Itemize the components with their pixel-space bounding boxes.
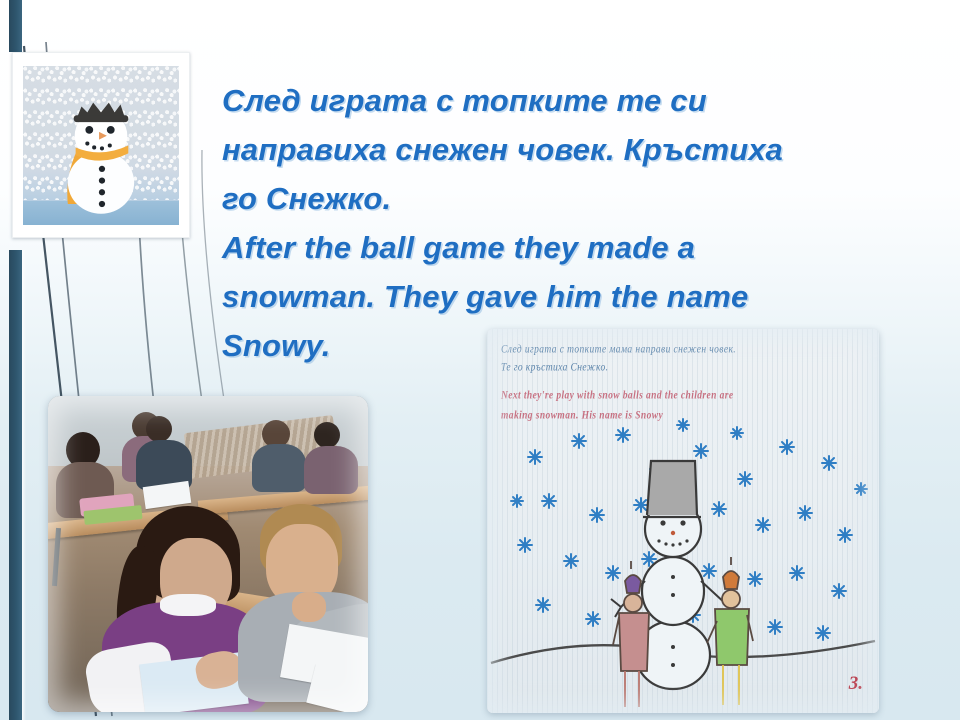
text-line-5: snowman. They gave him the name xyxy=(222,272,922,321)
snowman-figure-icon xyxy=(23,66,179,225)
drawing-vignette xyxy=(487,329,879,713)
text-line-4: After the ball game they made a xyxy=(222,223,922,272)
text-line-2: направиха снежен човек. Кръстиха xyxy=(222,125,922,174)
left-accent-bar-sheen xyxy=(22,250,26,720)
left-accent-bar-top xyxy=(9,0,22,52)
left-accent-bar-bottom xyxy=(9,250,22,720)
slide-text-block: След играта с топките те си направиха сн… xyxy=(222,76,922,370)
childs-drawing: След играта с топките мама направи снеже… xyxy=(487,329,879,713)
snowman-photo-card xyxy=(12,52,190,238)
text-line-3: го Снежко. xyxy=(222,174,922,223)
snowman-photo-frame xyxy=(23,66,179,225)
classroom-photo-vignette xyxy=(48,396,368,712)
presentation-slide: След играта с топките те си направиха сн… xyxy=(0,0,960,720)
text-line-1: След играта с топките те си xyxy=(222,76,922,125)
classroom-photo xyxy=(48,396,368,712)
snowman-photo-image xyxy=(23,66,179,225)
